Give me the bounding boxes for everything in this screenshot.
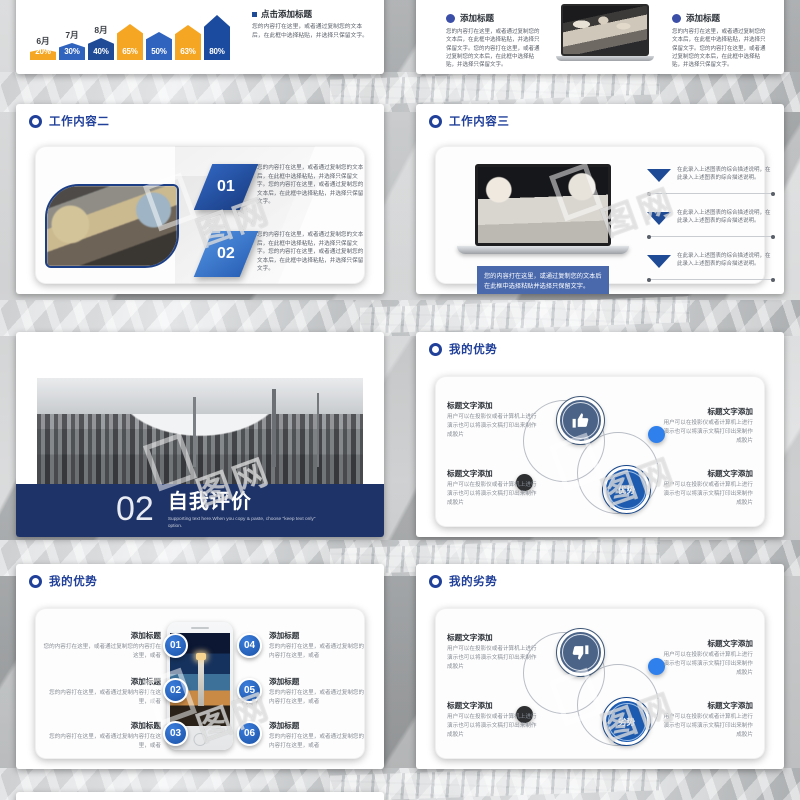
item-title: 添加标题 (43, 720, 161, 731)
slide-header-work-2: 工作内容二 (29, 113, 110, 129)
item-body: 您的内容打在这里，或者通过复制您的内容打在这里，或者 (43, 643, 161, 661)
item-body: 您的内容打在这里，或者通过复制您的内容打在这里，或者 (269, 733, 365, 751)
section-subtitle: Supporting text here.When you copy & pas… (168, 516, 326, 530)
advantage-badge-label: 优势 (618, 484, 635, 496)
ring-icon (429, 115, 442, 128)
item-title: 添加标题 (43, 630, 161, 641)
item-body: 用户可以在投影仪或者计算机上进行演示也可以将演示文稿打印出来制作成胶片 (663, 481, 753, 508)
item-title: 添加标题 (269, 630, 365, 641)
number-chip-05: 05 (237, 678, 262, 703)
bar-column: 65% (117, 4, 143, 60)
advantage-badge: 优势 (603, 466, 650, 513)
bar-category-label: 6月 (30, 35, 56, 47)
item-body: 用户可以在投影仪或者计算机上进行演示也可以将演示文稿打印出来制作成胶片 (663, 419, 753, 446)
bullet-dot-icon (672, 14, 681, 23)
bar-column: 20%6月 (30, 4, 56, 60)
bar-column: 30%7月 (59, 4, 85, 60)
laptop-mockup-desk (457, 164, 629, 268)
bar: 40% (88, 38, 114, 60)
chevron-down-icon (647, 212, 671, 225)
bar: 20% (30, 49, 56, 60)
legend-swatch-icon (252, 12, 257, 17)
add-title-left-body: 您的内容打在这里，或者通过复制您的文本后，在此框中选择粘贴，并选择只保留文字。您… (446, 28, 540, 70)
weakness-item-3: 标题文字添加 用户可以在投影仪或者计算机上进行演示也可以将演示文稿打印出来制作成… (447, 700, 537, 740)
work3-caption: 您的内容打在这里，或通过复制您的文本后在此框中选择粘贴并选择只保留文字。 (477, 266, 609, 294)
item-title: 标题文字添加 (447, 700, 537, 711)
section-number: 02 (116, 492, 154, 526)
bar-value-label: 65% (122, 47, 137, 60)
weakness-badge-label: 劣势 (618, 716, 635, 728)
item-number-01: 01 (217, 178, 235, 196)
content-card: 添加标题 您的内容打在这里，或者通过复制您的内容打在这里，或者 01 添加标题 … (35, 608, 365, 759)
bullet-text: 在此录入上述图表的综合描述说明，在此录入上述图表的综合描述说明。 (677, 209, 775, 226)
bar-value-label: 30% (64, 47, 79, 60)
bar: 65% (117, 24, 143, 60)
city-skyline-photo (37, 378, 363, 484)
bar: 80% (204, 15, 230, 60)
bullet-text: 在此录入上述图表的综合描述说明，在此录入上述图表的综合描述说明。 (677, 252, 775, 269)
thumbs-down-icon (557, 629, 604, 676)
ring-icon (29, 575, 42, 588)
bar-column: 40%8月 (88, 4, 114, 60)
slide-advantage-phone[interactable]: 我的优势 添加标题 您的内容打在这里，或者通过复制您的内容打在这里，或者 01 … (16, 564, 384, 769)
number-chip-02: 02 (163, 678, 188, 703)
bar-value-label: 20% (35, 47, 50, 60)
bullet-dot-icon (446, 14, 455, 23)
slide-header-label: 我的劣势 (449, 573, 497, 589)
phone-left-item-1: 添加标题 您的内容打在这里，或者通过复制您的内容打在这里，或者 (43, 630, 161, 661)
item-title: 标题文字添加 (663, 406, 753, 417)
chevron-down-icon (647, 169, 671, 182)
bar-category-label: 7月 (59, 29, 85, 41)
bar-column: 80% (204, 4, 230, 60)
bar-value-label: 50% (151, 47, 166, 60)
bullet-text: 在此录入上述图表的综合描述说明，在此录入上述图表的综合描述说明。 (677, 166, 775, 183)
work3-bullet-list: 在此录入上述图表的综合描述说明，在此录入上述图表的综合描述说明。 在此录入上述图… (647, 166, 775, 286)
add-title-right-body: 您的内容打在这里，或者通过复制您的文本后，在此框中选择粘贴，并选择只保留文字。您… (672, 28, 768, 70)
item-title: 标题文字添加 (447, 632, 537, 643)
bar-value-label: 40% (93, 47, 108, 60)
phone-left-item-2: 添加标题 您的内容打在这里，或者通过复制内容打在这里，或者 (43, 676, 161, 707)
item-body: 您的内容打在这里，或者通过复制您的内容打在这里，或者 (269, 689, 365, 707)
slide-work-content-3[interactable]: 工作内容三 您的内容打在这里，或通过复制您的文本后在此框中选择粘贴并选择只保留文… (416, 104, 784, 294)
item-body: 用户可以在投影仪或者计算机上进行演示也可以将演示文稿打印出来制作成胶片 (447, 713, 537, 740)
slide-header-work-3: 工作内容三 (429, 113, 510, 129)
advantage-item-1: 标题文字添加 用户可以在投影仪或者计算机上进行演示也可以将演示文稿打印出来制作成… (447, 400, 537, 440)
number-chip-01: 01 (163, 633, 188, 658)
slide-header-advantage: 我的优势 (429, 341, 497, 357)
item-body: 用户可以在投影仪或者计算机上进行演示也可以将演示文稿打印出来制作成胶片 (447, 481, 537, 508)
legend-body: 您的内容打在这里，或者通过复制您的文本后，在此框中选择粘贴，并选择只保留文字。 (252, 23, 372, 41)
bar: 63% (175, 25, 201, 60)
laptop-mockup-meeting (556, 4, 654, 66)
weakness-badge: 劣势 (603, 698, 650, 745)
slide-work-content-2[interactable]: 工作内容二 01 您的内容打在这里，或者通过复制您的文本后，在此框中选择粘贴，并… (16, 104, 384, 294)
item-body-01: 您的内容打在这里，或者通过复制您的文本后，在此框中选择粘贴，并选择只保留文字。您… (257, 164, 365, 207)
item-body: 您的内容打在这里，或者通过复制内容打在这里，或者 (43, 733, 161, 751)
advantage-item-4: 标题文字添加 用户可以在投影仪或者计算机上进行演示也可以将演示文稿打印出来制作成… (663, 468, 753, 508)
chart-legend: 点击添加标题 您的内容打在这里，或者通过复制您的文本后，在此框中选择粘贴，并选择… (252, 8, 372, 41)
slide-my-weakness[interactable]: 我的劣势 劣势 标题文字添加 用户可以在投影仪或者计算机上进行演示也可以将演示文… (416, 564, 784, 769)
ring-icon (429, 343, 442, 356)
item-number-02: 02 (217, 245, 235, 263)
item-title: 添加标题 (43, 676, 161, 687)
number-chip-04: 04 (237, 633, 262, 658)
bar-column: 50% (146, 4, 172, 60)
slide-header-label: 工作内容二 (49, 113, 110, 129)
list-item: 在此录入上述图表的综合描述说明，在此录入上述图表的综合描述说明。 (647, 209, 775, 243)
slide-header-label: 我的优势 (449, 341, 497, 357)
add-title-right-block: 添加标题 您的内容打在这里，或者通过复制您的文本后，在此框中选择粘贴，并选择只保… (672, 12, 768, 70)
slide-chart[interactable]: 20%6月30%7月40%8月65%50%63%80% 点击添加标题 您的内容打… (16, 0, 384, 74)
item-title: 标题文字添加 (663, 638, 753, 649)
list-item: 在此录入上述图表的综合描述说明，在此录入上述图表的综合描述说明。 (647, 166, 775, 200)
bar: 30% (59, 43, 85, 60)
content-card: 优势 标题文字添加 用户可以在投影仪或者计算机上进行演示也可以将演示文稿打印出来… (435, 376, 765, 527)
item-body: 用户可以在投影仪或者计算机上进行演示也可以将演示文稿打印出来制作成胶片 (663, 713, 753, 740)
ring-icon (29, 115, 42, 128)
phone-right-item-2: 添加标题 您的内容打在这里，或者通过复制您的内容打在这里，或者 (269, 676, 365, 707)
weakness-item-1: 标题文字添加 用户可以在投影仪或者计算机上进行演示也可以将演示文稿打印出来制作成… (447, 632, 537, 672)
number-chip-03: 03 (163, 721, 188, 746)
bar: 50% (146, 32, 172, 60)
item-body: 您的内容打在这里，或者通过复制您的内容打在这里，或者 (269, 643, 365, 661)
weakness-item-4: 标题文字添加 用户可以在投影仪或者计算机上进行演示也可以将演示文稿打印出来制作成… (663, 700, 753, 740)
thumbs-up-icon (557, 397, 604, 444)
bar-chart: 20%6月30%7月40%8月65%50%63%80% (30, 4, 230, 60)
advantage-item-2: 标题文字添加 用户可以在投影仪或者计算机上进行演示也可以将演示文稿打印出来制作成… (663, 406, 753, 446)
slide-add-title[interactable]: 添加标题 您的内容打在这里，或者通过复制您的文本后，在此框中选择粘贴，并选择只保… (416, 0, 784, 74)
content-card: 01 您的内容打在这里，或者通过复制您的文本后，在此框中选择粘贴，并选择只保留文… (35, 146, 365, 284)
item-title: 标题文字添加 (663, 700, 753, 711)
add-title-right-title: 添加标题 (686, 12, 720, 24)
item-body: 用户可以在投影仪或者计算机上进行演示也可以将演示文稿打印出来制作成胶片 (447, 645, 537, 672)
item-title: 添加标题 (269, 676, 365, 687)
slide-header-advantage-phone: 我的优势 (29, 573, 97, 589)
slide-header-label: 工作内容三 (449, 113, 510, 129)
slide-my-advantage[interactable]: 我的优势 优势 标题文字添加 用户可以在投影仪或者计算机上进行演示也可以将演示文… (416, 332, 784, 537)
legend-title: 点击添加标题 (261, 8, 312, 20)
bar-value-label: 63% (180, 47, 195, 60)
work2-photo (45, 184, 179, 268)
section-title: 自我评价 (168, 492, 326, 513)
bar-value-label: 80% (209, 47, 224, 60)
item-title: 添加标题 (269, 720, 365, 731)
item-body: 您的内容打在这里，或者通过复制内容打在这里，或者 (43, 689, 161, 707)
slide-my-creed[interactable]: 我的信条 (16, 792, 384, 800)
chevron-down-icon (647, 255, 671, 268)
content-card: 您的内容打在这里，或通过复制您的文本后在此框中选择粘贴并选择只保留文字。 在此录… (435, 146, 765, 284)
item-body: 用户可以在投影仪或者计算机上进行演示也可以将演示文稿打印出来制作成胶片 (447, 413, 537, 440)
item-title: 标题文字添加 (447, 400, 537, 411)
slide-header-weakness: 我的劣势 (429, 573, 497, 589)
divider-banner: 02 自我评价 Supporting text here.When you co… (16, 484, 384, 537)
slide-header-label: 我的优势 (49, 573, 97, 589)
item-title: 标题文字添加 (447, 468, 537, 479)
content-card: 劣势 标题文字添加 用户可以在投影仪或者计算机上进行演示也可以将演示文稿打印出来… (435, 608, 765, 759)
item-title: 标题文字添加 (663, 468, 753, 479)
add-title-left-block: 添加标题 您的内容打在这里，或者通过复制您的文本后，在此框中选择粘贴，并选择只保… (446, 12, 540, 70)
add-title-left-title: 添加标题 (460, 12, 494, 24)
phone-left-item-3: 添加标题 您的内容打在这里，或者通过复制内容打在这里，或者 (43, 720, 161, 751)
phone-right-item-1: 添加标题 您的内容打在这里，或者通过复制您的内容打在这里，或者 (269, 630, 365, 661)
bar-category-label: 8月 (88, 24, 114, 36)
list-item: 在此录入上述图表的综合描述说明，在此录入上述图表的综合描述说明。 (647, 252, 775, 286)
slide-section-divider[interactable]: 02 自我评价 Supporting text here.When you co… (16, 332, 384, 537)
number-chip-06: 06 (237, 721, 262, 746)
phone-right-item-3: 添加标题 您的内容打在这里，或者通过复制您的内容打在这里，或者 (269, 720, 365, 751)
weakness-item-2: 标题文字添加 用户可以在投影仪或者计算机上进行演示也可以将演示文稿打印出来制作成… (663, 638, 753, 678)
advantage-item-3: 标题文字添加 用户可以在投影仪或者计算机上进行演示也可以将演示文稿打印出来制作成… (447, 468, 537, 508)
item-body: 用户可以在投影仪或者计算机上进行演示也可以将演示文稿打印出来制作成胶片 (663, 651, 753, 678)
bar-column: 63% (175, 4, 201, 60)
item-body-02: 您的内容打在这里，或者通过复制您的文本后，在此框中选择粘贴，并选择只保留文字。您… (257, 231, 365, 274)
ring-icon (429, 575, 442, 588)
